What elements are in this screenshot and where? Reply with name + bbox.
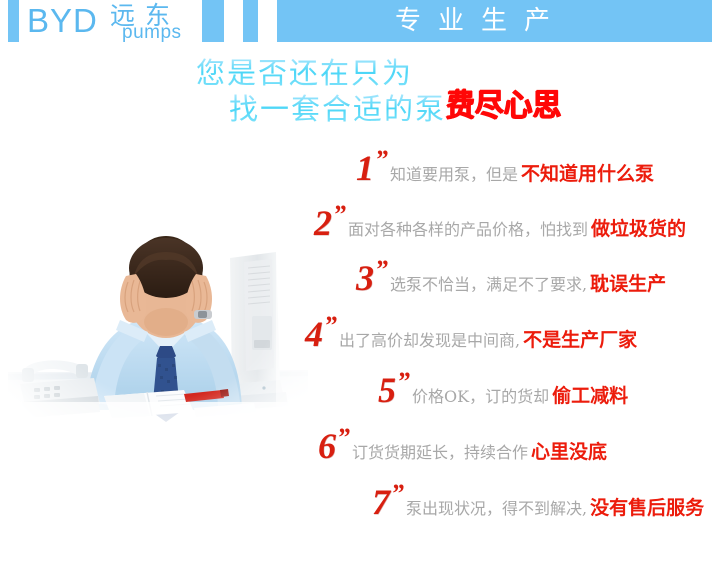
header-accent-bar-left — [8, 0, 19, 42]
list-item-highlight-text: 心里没底 — [531, 441, 607, 463]
header-accent-bar-mid-1 — [202, 0, 224, 42]
list-item-highlight-text: 耽误生产 — [590, 273, 666, 295]
list-item: 6 ” 订货货期延长，持续合作 心里没底 — [318, 426, 607, 472]
list-item-number: 7 — [372, 482, 390, 522]
page-header: BYD 远东 pumps 专业生产 — [0, 0, 722, 44]
pain-point-list: 1 ” 知道要用泵，但是 不知道用什么泵 2 ” 面对各种各样的产品价格，怕找到… — [300, 148, 722, 538]
list-item-number: 1 — [356, 148, 374, 188]
list-item-gray-text: 订货货期延长，持续合作 — [352, 442, 528, 464]
list-item-gray-text: 价格OK，订的货却 — [412, 386, 549, 408]
headline-line-2: 找一套合适的泵 — [229, 91, 446, 127]
list-item-highlight-text: 不是生产厂家 — [523, 329, 637, 351]
list-item-prime-mark: ” — [397, 369, 409, 395]
logo-brand-text: BYD — [27, 3, 98, 39]
list-item-number: 6 — [318, 426, 336, 466]
brand-logo[interactable]: BYD 远东 pumps — [27, 2, 202, 44]
list-item-gray-text: 知道要用泵，但是 — [390, 164, 518, 186]
list-item-gray-text: 出了高价却发现是中间商, — [339, 330, 520, 352]
list-item-number: 4 — [305, 314, 323, 354]
list-item-highlight-text: 不知道用什么泵 — [521, 163, 654, 185]
list-item: 2 ” 面对各种各样的产品价格，怕找到 做垃圾货的 — [314, 203, 686, 249]
list-item-prime-mark: ” — [337, 425, 349, 451]
list-item-prime-mark: ” — [333, 202, 345, 228]
frustrated-businessman-photo — [8, 140, 320, 430]
list-item-prime-mark: ” — [375, 147, 387, 173]
photo-illustration — [8, 140, 320, 430]
headline-line-1: 您是否还在只为 — [196, 55, 413, 91]
list-item: 3 ” 选泵不恰当，满足不了要求, 耽误生产 — [356, 258, 666, 304]
header-slogan: 专业生产 — [395, 5, 567, 38]
list-item-prime-mark: ” — [391, 481, 403, 507]
headline-block: 您是否还在只为 找一套合适的泵 — [0, 50, 722, 135]
list-item-highlight-text: 没有售后服务 — [590, 497, 704, 519]
list-item-prime-mark: ” — [375, 257, 387, 283]
list-item-gray-text: 泵出现状况，得不到解决, — [406, 498, 587, 520]
header-accent-bar-mid-2 — [243, 0, 258, 42]
logo-subtitle-text: pumps — [122, 23, 182, 43]
list-item-highlight-text: 偷工减料 — [552, 385, 628, 407]
list-item-number: 5 — [378, 370, 396, 410]
list-item-gray-text: 面对各种各样的产品价格，怕找到 — [348, 219, 588, 241]
list-item: 4 ” 出了高价却发现是中间商, 不是生产厂家 — [305, 314, 637, 360]
list-item-highlight-text: 做垃圾货的 — [591, 218, 686, 240]
list-item: 7 ” 泵出现状况，得不到解决, 没有售后服务 — [372, 482, 704, 528]
list-item-gray-text: 选泵不恰当，满足不了要求, — [390, 274, 587, 296]
list-item: 5 ” 价格OK，订的货却 偷工减料 — [378, 370, 628, 416]
list-item-number: 3 — [356, 258, 374, 298]
list-item-prime-mark: ” — [324, 313, 336, 339]
list-item: 1 ” 知道要用泵，但是 不知道用什么泵 — [356, 148, 654, 194]
headline-stamp-text: 费尽心思 — [446, 88, 561, 124]
list-item-number: 2 — [314, 203, 332, 243]
